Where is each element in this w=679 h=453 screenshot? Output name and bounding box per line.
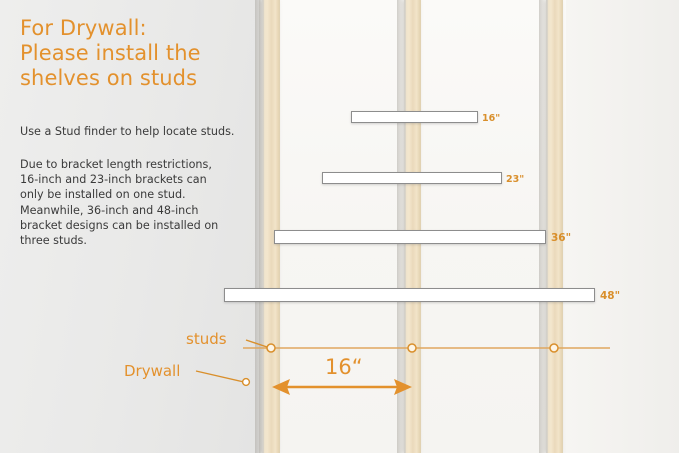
drywall-annotation-label: Drywall: [124, 362, 180, 380]
stud-marker-center: [408, 344, 416, 352]
stud-marker-left: [267, 344, 275, 352]
annotation-overlay: [0, 0, 679, 453]
stud-marker-right: [550, 344, 558, 352]
drywall-marker: [243, 379, 250, 386]
drywall-instruction-diagram: For Drywall: Please install the shelves …: [0, 0, 679, 453]
studs-leader-line: [246, 340, 267, 347]
drywall-leader-line: [196, 371, 244, 382]
spacing-dimension-label: 16“: [325, 355, 363, 379]
studs-annotation-label: studs: [186, 330, 227, 348]
